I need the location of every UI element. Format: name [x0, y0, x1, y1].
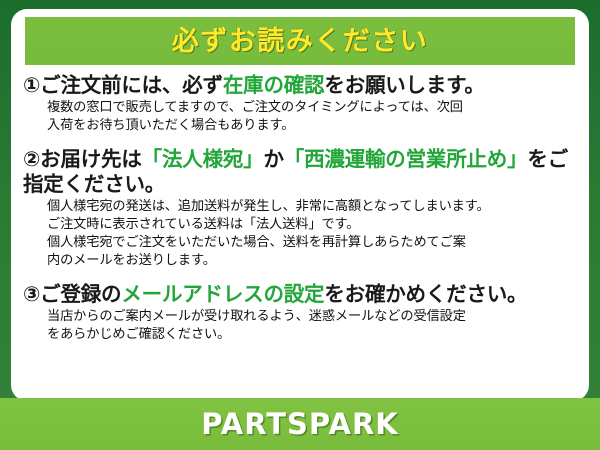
- section-3-heading: ③ご登録のメールアドレスの設定をお確かめください。: [21, 282, 579, 307]
- notice-section-3: ③ご登録のメールアドレスの設定をお確かめください。 当店からのご案内メールが受け…: [21, 282, 579, 344]
- section-1-body: 複数の窓口で販売してますので、ご注文のタイミングによっては、次回 入荷をお待ち頂…: [21, 99, 579, 135]
- section-3-body: 当店からのご案内メールが受け取れるよう、迷惑メールなどの受信設定 をあらかじめご…: [21, 308, 579, 344]
- banner: 必ずお読みください: [25, 17, 575, 65]
- section-3-heading-part-0: ③ご登録の: [23, 282, 121, 306]
- section-3-heading-part-1: メールアドレスの設定: [121, 282, 324, 306]
- section-2-heading-part-1: 「法人様宛」: [142, 147, 264, 171]
- notice-section-1: ①ご注文前には、必ず在庫の確認をお願いします。 複数の窓口で販売してますので、ご…: [21, 73, 579, 135]
- section-1-heading-part-0: ①ご注文前には、必ず: [23, 73, 223, 97]
- notice-content: ①ご注文前には、必ず在庫の確認をお願いします。 複数の窓口で販売してますので、ご…: [11, 67, 589, 346]
- section-2-heading: ②お届け先は「法人様宛」か「西濃運輸の営業所止め」をご指定ください。: [21, 147, 579, 197]
- brand-logo-text: PARTSPARK: [201, 410, 399, 439]
- section-2-heading-part-2: か: [263, 147, 283, 171]
- footer-bar: PARTSPARK: [0, 398, 600, 450]
- notice-frame: 必ずお読みください ①ご注文前には、必ず在庫の確認をお願いします。 複数の窓口で…: [0, 0, 600, 450]
- section-2-heading-part-3: 「西濃運輸の営業所止め」: [284, 147, 528, 171]
- section-2-heading-part-0: ②お届け先は: [23, 147, 142, 171]
- section-1-heading: ①ご注文前には、必ず在庫の確認をお願いします。: [21, 73, 579, 98]
- banner-title: 必ずお読みください: [172, 28, 429, 55]
- section-1-heading-part-2: をお願いします。: [324, 73, 484, 97]
- notice-section-2: ②お届け先は「法人様宛」か「西濃運輸の営業所止め」をご指定ください。 個人様宅宛…: [21, 147, 579, 270]
- section-3-heading-part-2: をお確かめください。: [324, 282, 527, 306]
- section-1-heading-part-1: 在庫の確認: [223, 73, 325, 97]
- notice-card: 必ずお読みください ①ご注文前には、必ず在庫の確認をお願いします。 複数の窓口で…: [11, 9, 589, 401]
- section-2-body: 個人様宅宛の発送は、追加送料が発生し、非常に高額となってしまいます。 ご注文時に…: [21, 198, 579, 270]
